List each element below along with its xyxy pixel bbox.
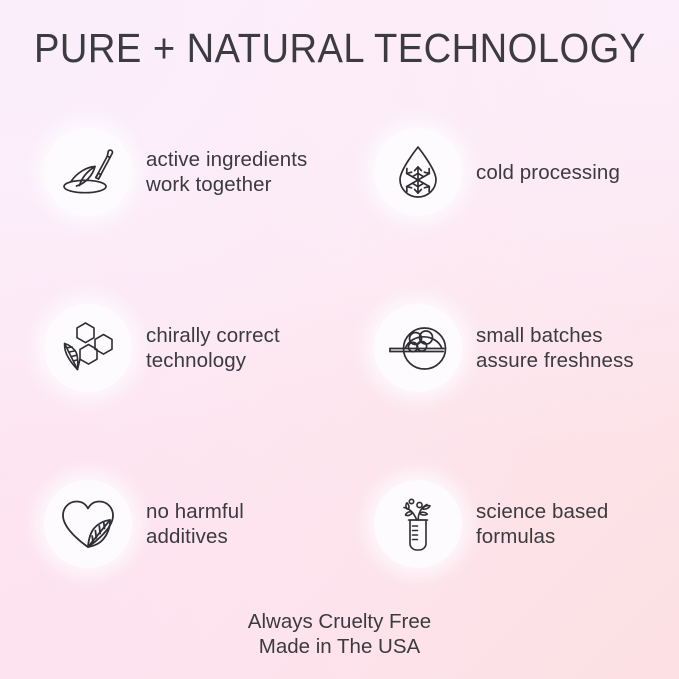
footer-text: Always Cruelty Free Made in The USA — [0, 609, 679, 659]
page-title-wrapper: PURE + NATURAL TECHNOLOGY — [0, 24, 679, 72]
feature-label: no harmful additives — [146, 499, 244, 549]
feature-grid: active ingredients work together — [44, 128, 644, 610]
feature-label: active ingredients work together — [146, 147, 307, 197]
poster-canvas: PURE + NATURAL TECHNOLOGY active ingredi… — [0, 0, 679, 679]
feature-item-active-ingredients: active ingredients work together — [44, 128, 374, 216]
feature-item-cold-processing: cold processing — [374, 128, 644, 216]
dropper-leaf-icon — [44, 128, 132, 216]
feature-label: cold processing — [476, 160, 620, 185]
heart-leaf-icon — [44, 480, 132, 568]
feature-label: chirally correct technology — [146, 323, 280, 373]
droplet-snowflake-icon — [374, 128, 462, 216]
feature-item-no-harmful-additives: no harmful additives — [44, 480, 374, 568]
feature-item-science-based: science based formulas — [374, 480, 644, 568]
page-title: PURE + NATURAL TECHNOLOGY — [34, 24, 646, 72]
test-tube-plant-icon — [374, 480, 462, 568]
feature-item-small-batches: small batches assure freshness — [374, 304, 644, 392]
feature-label: small batches assure freshness — [476, 323, 634, 373]
feature-item-chirally-correct: chirally correct technology — [44, 304, 374, 392]
feature-label: science based formulas — [476, 499, 608, 549]
spoon-batch-icon — [374, 304, 462, 392]
molecule-leaf-icon — [44, 304, 132, 392]
